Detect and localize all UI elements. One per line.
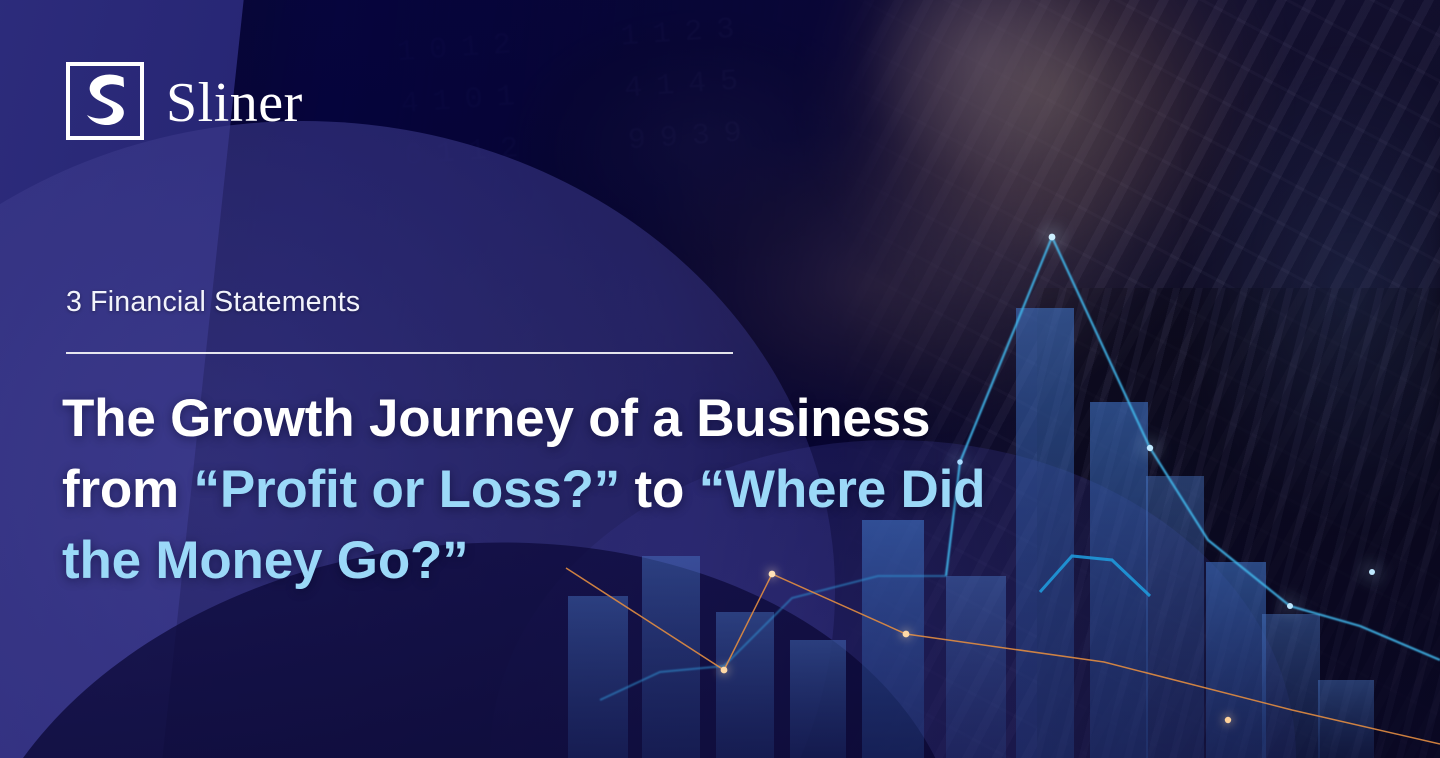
- hero-banner: 1012 1123 4101 4145 6112 9939: [0, 0, 1440, 758]
- headline-line-2-white-b: to: [620, 460, 699, 519]
- hero-headline: The Growth Journey of a Businessfrom “Pr…: [62, 383, 1152, 596]
- hero-eyebrow: 3 Financial Statements: [66, 285, 360, 319]
- headline-line-2-accent-a: “Profit or Loss?”: [194, 460, 621, 519]
- headline-line-2-accent-b: “Where Did: [699, 460, 986, 519]
- headline-line-1: The Growth Journey of a Business: [62, 389, 930, 448]
- hero-content: Sliner 3 Financial Statements The Growth…: [0, 0, 1440, 758]
- sliner-s-mark-icon: [66, 62, 144, 140]
- hero-divider: [66, 352, 733, 354]
- headline-line-2-white-a: from: [62, 460, 194, 519]
- brand-logo[interactable]: Sliner: [66, 62, 303, 140]
- headline-line-3-accent: the Money Go?”: [62, 531, 468, 590]
- brand-name: Sliner: [166, 75, 303, 131]
